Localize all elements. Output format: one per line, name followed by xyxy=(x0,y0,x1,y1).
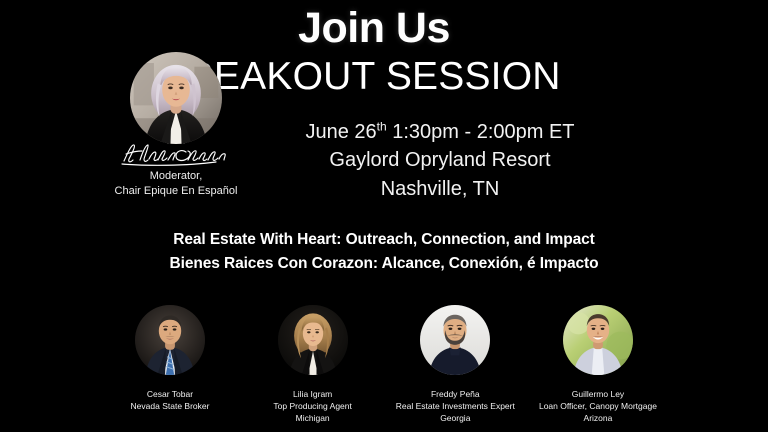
moderator-photo-wrap xyxy=(130,52,222,144)
speaker-caption: Guillermo Ley Loan Officer, Canopy Mortg… xyxy=(532,388,664,424)
speaker-card-cesar-tobar: Cesar Tobar Nevada State Broker xyxy=(104,305,236,412)
event-date-ordinal: th xyxy=(377,119,387,133)
speaker-caption: Lilia Igram Top Producing Agent Michigan xyxy=(247,388,379,424)
speaker-caption: Freddy Peña Real Estate Investments Expe… xyxy=(389,388,521,424)
speaker-photo-wrap xyxy=(563,305,633,375)
speaker-photo-wrap xyxy=(420,305,490,375)
speaker-location: Michigan xyxy=(247,412,379,424)
speaker-name: Cesar Tobar xyxy=(104,388,236,400)
speaker-title: Real Estate Investments Expert xyxy=(389,400,521,412)
moderator-role: Moderator, Chair Epique En Español xyxy=(88,169,264,198)
event-datetime-line: June 26th 1:30pm - 2:00pm ET xyxy=(190,118,690,146)
moderator-role-line-1: Moderator, xyxy=(88,169,264,184)
event-announcement-poster: Join Us BREAKOUT SESSION June 26th 1:30p… xyxy=(0,0,768,432)
speaker-card-lilia-igram: Lilia Igram Top Producing Agent Michigan xyxy=(247,305,379,424)
session-titles: Real Estate With Heart: Outreach, Connec… xyxy=(0,228,768,276)
event-city-state: Nashville, TN xyxy=(190,175,690,203)
speaker-portrait-photo xyxy=(135,305,205,375)
speaker-title: Loan Officer, Canopy Mortgage xyxy=(532,400,664,412)
moderator-role-line-2: Chair Epique En Español xyxy=(88,184,264,199)
speaker-portrait-photo xyxy=(420,305,490,375)
speaker-title: Nevada State Broker xyxy=(104,400,236,412)
headline-join-us: Join Us xyxy=(0,6,768,51)
speaker-list: Cesar Tobar Nevada State Broker xyxy=(104,305,664,424)
moderator-block: Moderator, Chair Epique En Español xyxy=(88,52,264,198)
event-date: June 26 xyxy=(305,121,376,143)
speaker-title: Top Producing Agent xyxy=(247,400,379,412)
speaker-name: Lilia Igram xyxy=(247,388,379,400)
moderator-portrait-photo xyxy=(130,52,222,144)
session-title-english: Real Estate With Heart: Outreach, Connec… xyxy=(0,228,768,252)
speaker-name: Guillermo Ley xyxy=(532,388,664,400)
speaker-name: Freddy Peña xyxy=(389,388,521,400)
speaker-card-freddy-pena: Freddy Peña Real Estate Investments Expe… xyxy=(389,305,521,424)
speaker-caption: Cesar Tobar Nevada State Broker xyxy=(104,388,236,412)
moderator-signature xyxy=(88,138,264,168)
speaker-portrait-photo xyxy=(278,305,348,375)
speaker-card-guillermo-ley: Guillermo Ley Loan Officer, Canopy Mortg… xyxy=(532,305,664,424)
session-title-spanish: Bienes Raices Con Corazon: Alcance, Cone… xyxy=(0,252,768,276)
speaker-location: Georgia xyxy=(389,412,521,424)
event-details: June 26th 1:30pm - 2:00pm ET Gaylord Opr… xyxy=(190,118,690,203)
headline-join-us-text: Join Us xyxy=(298,6,450,51)
speaker-location: Arizona xyxy=(532,412,664,424)
event-time-range: 1:30pm - 2:00pm ET xyxy=(387,121,575,143)
speaker-photo-wrap xyxy=(135,305,205,375)
speaker-portrait-photo xyxy=(563,305,633,375)
event-venue: Gaylord Opryland Resort xyxy=(190,146,690,174)
speaker-photo-wrap xyxy=(278,305,348,375)
